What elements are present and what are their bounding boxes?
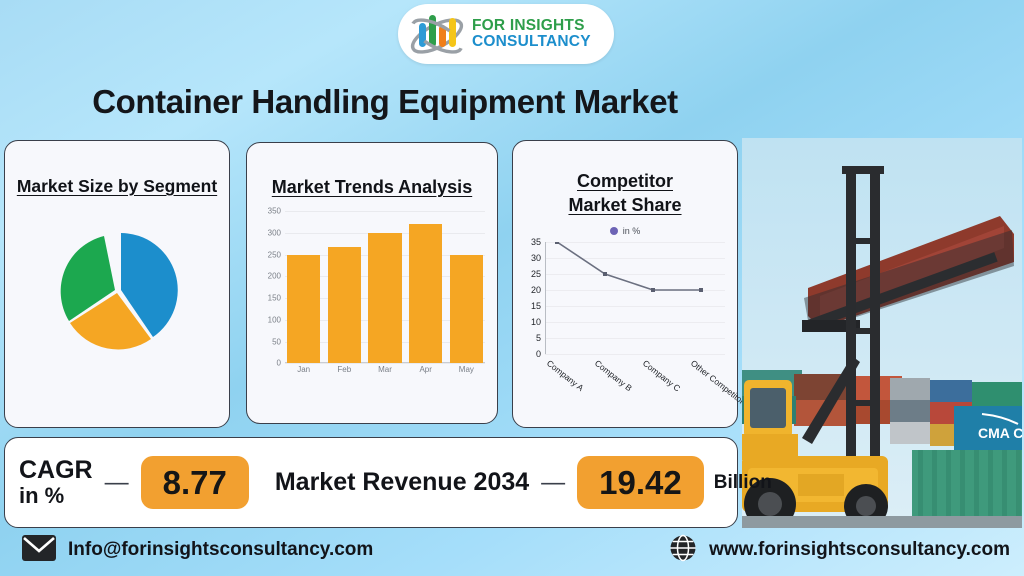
- email-icon: [22, 535, 56, 566]
- line-y-tick: 0: [536, 349, 541, 359]
- bar-y-tick: 200: [268, 272, 281, 281]
- card-title-bar: Market Trends Analysis: [247, 175, 497, 199]
- line-chart: 05101520253035 Company ACompany BCompany…: [519, 242, 729, 412]
- logo-line-2: CONSULTANCY: [472, 34, 591, 50]
- card-market-size-by-segment: Market Size by Segment: [4, 140, 230, 428]
- card-competitor-market-share: Competitor Market Share in % 05101520253…: [512, 140, 738, 428]
- line-point-1: [603, 272, 607, 276]
- line-point-0: [555, 242, 559, 244]
- line-x-label: Company B: [593, 358, 634, 393]
- bar-feb: [328, 247, 361, 363]
- line-y-tick: 20: [531, 285, 541, 295]
- globe-icon: [669, 534, 697, 567]
- line-series-path: [557, 242, 701, 290]
- line-y-tick: 10: [531, 317, 541, 327]
- card-title-line-1: Competitor: [577, 171, 673, 191]
- bar-chart-bars: [287, 211, 483, 363]
- line-x-label: Company A: [545, 358, 586, 393]
- cagr-label: CAGR in %: [19, 457, 93, 508]
- pie-chart-svg: [47, 227, 187, 357]
- cagr-label-sub: in %: [19, 484, 93, 508]
- bar-jan: [287, 255, 320, 364]
- footer-website[interactable]: www.forinsightsconsultancy.com: [669, 534, 1010, 567]
- cagr-dash: —: [105, 469, 129, 497]
- legend-label: in %: [623, 226, 641, 236]
- kpi-strip: CAGR in % — 8.77 Market Revenue 2034 — 1…: [4, 437, 738, 528]
- logo-bars-icon: [406, 9, 468, 59]
- bar-x-label: Mar: [368, 365, 401, 381]
- bar-mar: [368, 233, 401, 363]
- website-text: www.forinsightsconsultancy.com: [709, 539, 1010, 561]
- cagr-value-badge: 8.77: [141, 456, 249, 509]
- line-y-tick: 35: [531, 237, 541, 247]
- revenue-label: Market Revenue 2034: [275, 468, 529, 497]
- cagr-label-main: CAGR: [19, 457, 93, 484]
- line-point-3: [699, 288, 703, 292]
- bar-x-label: Jan: [287, 365, 320, 381]
- line-chart-x-labels: Company ACompany BCompany COther Competi…: [545, 358, 729, 412]
- bar-chart-y-axis: 050100150200250300350: [255, 211, 281, 363]
- card-market-trends-analysis: Market Trends Analysis 05010015020025030…: [246, 142, 498, 424]
- bar-x-label: Feb: [328, 365, 361, 381]
- bar-y-tick: 150: [268, 294, 281, 303]
- bar-y-tick: 50: [272, 337, 281, 346]
- revenue-dash: —: [541, 469, 565, 497]
- line-y-tick: 15: [531, 301, 541, 311]
- logo-text: FOR INSIGHTS CONSULTANCY: [472, 18, 591, 50]
- infographic-canvas: FOR INSIGHTS CONSULTANCY Container Handl…: [0, 0, 1024, 576]
- line-x-label: Company C: [641, 358, 683, 394]
- line-y-tick: 25: [531, 269, 541, 279]
- svg-text:CMA C: CMA C: [978, 425, 1022, 441]
- revenue-unit: Billion: [714, 472, 772, 494]
- bar-x-label: May: [450, 365, 483, 381]
- legend-dot-icon: [610, 227, 618, 235]
- line-y-tick: 5: [536, 333, 541, 343]
- footer: Info@forinsightsconsultancy.com www.fori…: [0, 528, 1024, 572]
- bar-gridline: [285, 363, 485, 364]
- bar-y-tick: 300: [268, 229, 281, 238]
- bar-chart: 050100150200250300350 JanFebMarAprMay: [255, 211, 487, 381]
- email-text: Info@forinsightsconsultancy.com: [68, 539, 373, 561]
- line-y-tick: 30: [531, 253, 541, 263]
- bar-y-tick: 0: [277, 359, 281, 368]
- bar-y-tick: 350: [268, 207, 281, 216]
- pie-chart: [5, 227, 229, 357]
- brand-logo: FOR INSIGHTS CONSULTANCY: [398, 4, 614, 64]
- bar-chart-x-labels: JanFebMarAprMay: [287, 365, 483, 381]
- page-title: Container Handling Equipment Market: [0, 83, 770, 121]
- footer-email[interactable]: Info@forinsightsconsultancy.com: [22, 535, 373, 566]
- line-chart-series: [545, 242, 715, 354]
- bar-x-label: Apr: [409, 365, 442, 381]
- bar-y-tick: 100: [268, 315, 281, 324]
- line-gridline: [545, 354, 725, 355]
- logo-line-1: FOR INSIGHTS: [472, 18, 591, 34]
- line-chart-y-axis: 05101520253035: [519, 242, 541, 354]
- card-title-line-2: Market Share: [568, 195, 681, 215]
- revenue-value-badge: 19.42: [577, 456, 704, 509]
- line-chart-legend: in %: [513, 226, 737, 236]
- card-title-line: Competitor Market Share: [513, 169, 737, 218]
- card-title-pie: Market Size by Segment: [5, 175, 229, 199]
- bar-may: [450, 255, 483, 364]
- line-point-2: [651, 288, 655, 292]
- line-x-label: Other Competitors: [689, 358, 750, 409]
- bar-y-tick: 250: [268, 250, 281, 259]
- bar-apr: [409, 224, 442, 363]
- port-container-handler-photo: CMA C: [742, 138, 1022, 528]
